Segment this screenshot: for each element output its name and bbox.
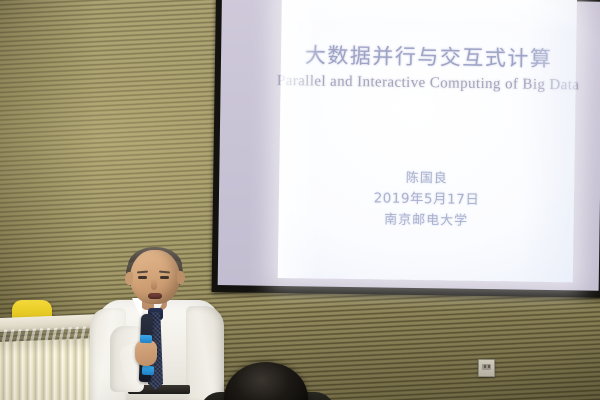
projection-screen: 大数据并行与交互式计算 Parallel and Interactive Com… [212, 0, 600, 298]
slide-content: 大数据并行与交互式计算 Parallel and Interactive Com… [278, 0, 577, 282]
slide-affiliation: 南京邮电大学 [373, 209, 479, 232]
microphone-upper-band [140, 335, 152, 343]
slide-byline-block: 陈国良 2019年5月17日 南京邮电大学 [373, 167, 480, 232]
speaker-figure [88, 252, 228, 400]
speaker-left-eye [138, 276, 147, 279]
microphone-lower-band [142, 366, 154, 375]
slide-date: 2019年5月17日 [373, 188, 479, 211]
speaker-hand [135, 340, 157, 366]
wall-outlet-icon [478, 359, 495, 377]
speaker-nose [151, 279, 157, 290]
lecture-photo: 大数据并行与交互式计算 Parallel and Interactive Com… [0, 0, 600, 400]
speaker-right-shoulder [186, 306, 224, 400]
speaker-right-eye [160, 276, 169, 279]
screen-surface: 大数据并行与交互式计算 Parallel and Interactive Com… [218, 0, 600, 291]
slide-subtitle-english: Parallel and Interactive Computing of Bi… [277, 73, 580, 94]
speaker-mouth [148, 293, 162, 299]
slide-presenter-name: 陈国良 [374, 167, 480, 190]
slide-title-chinese: 大数据并行与交互式计算 [305, 39, 553, 73]
speaker-right-ear [177, 271, 185, 284]
speaker-left-ear [125, 272, 133, 285]
projected-slide: 大数据并行与交互式计算 Parallel and Interactive Com… [278, 0, 577, 282]
